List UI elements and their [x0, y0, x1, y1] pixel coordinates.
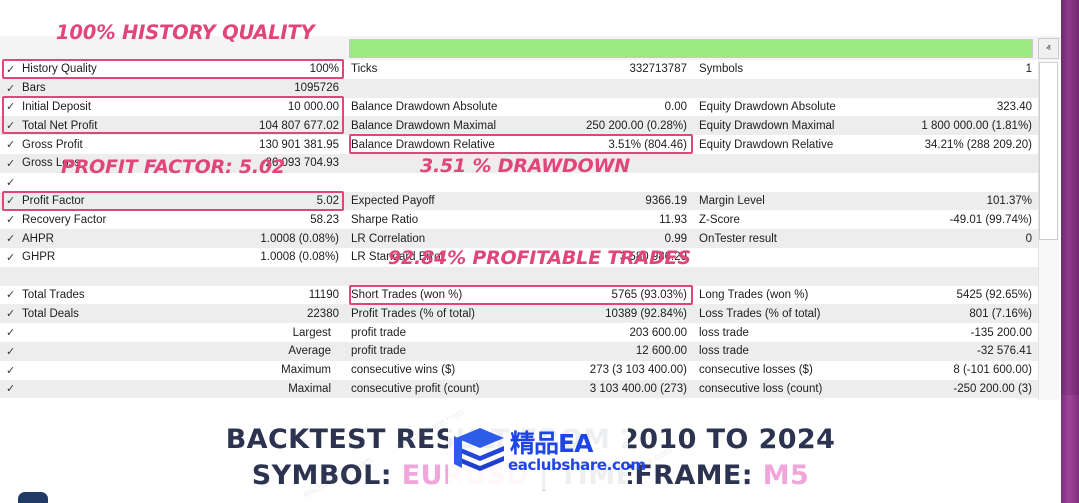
table-cell-col1: ✓Recovery Factor58.23: [0, 210, 345, 229]
table-cell-col1: ✓Total Net Profit104 807 677.02: [0, 116, 345, 135]
table-row[interactable]: ✓Total Deals22380Profit Trades (% of tot…: [0, 304, 1038, 323]
table-cell-col3: Loss Trades (% of total)801 (7.16%): [693, 304, 1038, 323]
row-value: 1 800 000.00 (1.81%): [913, 120, 1032, 132]
table-cell-col1: ✓Gross Profit130 901 381.95: [0, 135, 345, 154]
table-cell-col3: [693, 79, 1038, 98]
check-icon[interactable]: ✓: [6, 63, 22, 76]
table-cell-col1: ✓Total Trades11190: [0, 286, 345, 305]
row-label: Ticks: [351, 63, 621, 75]
table-cell-col3: loss trade-135 200.00: [693, 323, 1038, 342]
row-value: 1095726: [286, 82, 339, 94]
table-row[interactable]: ✓Recovery Factor58.23Sharpe Ratio11.93Z-…: [0, 210, 1038, 229]
table-cell-col3: [693, 267, 1038, 286]
table-cell-col2: [345, 79, 693, 98]
row-value: 801 (7.16%): [961, 308, 1032, 320]
row-value: 3 103 400.00 (273): [582, 383, 687, 395]
watermark-cn-text: 精品EA: [510, 424, 592, 460]
row-label: consecutive loss (count): [699, 383, 945, 395]
table-cell-col1: ✓Maximal: [0, 380, 345, 399]
table-cell-col3: consecutive loss (count)-250 200.00 (3): [693, 380, 1038, 399]
table-row[interactable]: ✓Bars1095726: [0, 79, 1038, 98]
row-value: -250 200.00 (3): [945, 383, 1032, 395]
table-cell-col1: ✓Largest: [0, 323, 345, 342]
row-label: Equity Drawdown Relative: [699, 139, 917, 151]
row-value: 11190: [301, 289, 339, 301]
row-value: 0: [1018, 233, 1032, 245]
check-icon[interactable]: ✓: [6, 100, 22, 113]
table-row[interactable]: ✓Initial Deposit10 000.00Balance Drawdow…: [0, 98, 1038, 117]
row-value: 101.37%: [979, 195, 1032, 207]
table-row[interactable]: ✓Total Trades11190Short Trades (won %)57…: [0, 286, 1038, 305]
row-label: Balance Drawdown Absolute: [351, 101, 657, 113]
row-label: profit trade: [351, 345, 628, 357]
row-label: loss trade: [699, 327, 963, 339]
table-cell-col3: Symbols1: [693, 60, 1038, 79]
row-value: 10389 (92.84%): [597, 308, 687, 320]
row-label: Bars: [22, 82, 286, 94]
row-value: 130 901 381.95: [251, 139, 339, 151]
row-value: 3.51% (804.46): [600, 139, 687, 151]
table-cell-col2: Balance Drawdown Maximal250 200.00 (0.28…: [345, 116, 693, 135]
corner-logo-fragment: [18, 492, 48, 503]
table-row[interactable]: ✓History Quality100%Ticks332713787Symbol…: [0, 60, 1038, 79]
row-value: 58.23: [302, 214, 339, 226]
check-icon[interactable]: ✓: [6, 382, 22, 395]
right-edge-band-lower: [1061, 395, 1079, 503]
report-rows: ✓History Quality100%Ticks332713787Symbol…: [0, 60, 1038, 417]
table-row[interactable]: ✓Maximalconsecutive profit (count)3 103 …: [0, 380, 1038, 399]
row-label: Maximum: [22, 364, 331, 376]
row-label: Equity Drawdown Absolute: [699, 101, 989, 113]
row-value: 332713787: [621, 63, 687, 75]
table-cell-col3: Equity Drawdown Maximal1 800 000.00 (1.8…: [693, 116, 1038, 135]
table-row[interactable]: ✓Total Net Profit104 807 677.02Balance D…: [0, 116, 1038, 135]
caption-profit-factor: PROFIT FACTOR: 5.02: [61, 156, 285, 178]
table-cell-col2: Short Trades (won %)5765 (93.03%): [345, 286, 693, 305]
table-row[interactable]: ✓Gross Profit130 901 381.95Balance Drawd…: [0, 135, 1038, 154]
row-value: -49.01 (99.74%): [942, 214, 1032, 226]
banner-timeframe-value: M5: [763, 460, 809, 491]
row-label: Gross Profit: [22, 139, 251, 151]
table-cell-col3: loss trade-32 576.41: [693, 342, 1038, 361]
check-icon[interactable]: ✓: [6, 364, 22, 377]
history-quality-bar: [349, 39, 1033, 58]
table-cell-col3: OnTester result0: [693, 229, 1038, 248]
row-value: -32 576.41: [969, 345, 1032, 357]
row-value: 1.0008 (0.08%): [252, 251, 339, 263]
table-cell-col1: ✓Total Deals22380: [0, 304, 345, 323]
table-row[interactable]: [0, 267, 1038, 286]
check-icon[interactable]: ✓: [6, 232, 22, 245]
row-label: loss trade: [699, 345, 969, 357]
row-label: Recovery Factor: [22, 214, 302, 226]
table-cell-col3: Equity Drawdown Relative34.21% (288 209.…: [693, 135, 1038, 154]
row-label: consecutive losses ($): [699, 364, 945, 376]
row-value: 100%: [302, 63, 339, 75]
table-cell-col1: ✓Average: [0, 342, 345, 361]
backtest-report-panel: ⱏ ✓History Quality100%Ticks332713787Symb…: [0, 36, 1061, 400]
check-icon[interactable]: ✓: [6, 176, 22, 189]
caption-drawdown: 3.51 % DRAWDOWN: [420, 155, 630, 177]
row-value: 203 600.00: [621, 327, 687, 339]
row-value: 5.02: [309, 195, 339, 207]
row-label: GHPR: [22, 251, 252, 263]
check-icon[interactable]: ✓: [6, 157, 22, 170]
row-label: Average: [22, 345, 331, 357]
row-label: Total Deals: [22, 308, 299, 320]
check-icon[interactable]: ✓: [6, 251, 22, 264]
row-value: 9366.19: [637, 195, 687, 207]
row-label: consecutive wins ($): [351, 364, 582, 376]
row-label: Equity Drawdown Maximal: [699, 120, 913, 132]
row-label: Z-Score: [699, 214, 942, 226]
row-value: 323.40: [989, 101, 1032, 113]
row-value: 250 200.00 (0.28%): [578, 120, 687, 132]
table-cell-col2: consecutive profit (count)3 103 400.00 (…: [345, 380, 693, 399]
table-cell-col2: profit trade203 600.00: [345, 323, 693, 342]
row-label: Balance Drawdown Relative: [351, 139, 600, 151]
row-value: 1.0008 (0.08%): [252, 233, 339, 245]
table-cell-col2: [345, 267, 693, 286]
table-cell-col2: LR Correlation0.99: [345, 229, 693, 248]
check-icon[interactable]: ✓: [6, 326, 22, 339]
watermark-url: eaclubshare.com: [508, 456, 646, 474]
row-value: 273 (3 103 400.00): [582, 364, 687, 376]
table-cell-col3: Equity Drawdown Absolute323.40: [693, 98, 1038, 117]
table-cell-col2: Balance Drawdown Absolute0.00: [345, 98, 693, 117]
row-label: Sharpe Ratio: [351, 214, 651, 226]
banner-symbol-label: SYMBOL:: [252, 460, 402, 491]
table-cell-col2: profit trade12 600.00: [345, 342, 693, 361]
table-cell-col3: [693, 173, 1038, 192]
table-cell-col1: ✓Bars1095726: [0, 79, 345, 98]
table-cell-col2: Balance Drawdown Relative3.51% (804.46): [345, 135, 693, 154]
row-label: OnTester result: [699, 233, 1018, 245]
row-label: Initial Deposit: [22, 101, 280, 113]
row-value: 8 (-101 600.00): [945, 364, 1032, 376]
table-row[interactable]: ✓Maximumconsecutive wins ($)273 (3 103 4…: [0, 361, 1038, 380]
watermark: 精品EA eaclubshare.com: [448, 418, 628, 490]
check-icon[interactable]: ✓: [6, 119, 22, 132]
right-edge-band: [1061, 0, 1079, 395]
row-label: Profit Factor: [22, 195, 309, 207]
table-row[interactable]: ✓Profit Factor5.02Expected Payoff9366.19…: [0, 192, 1038, 211]
row-value: 11.93: [651, 214, 687, 226]
table-cell-col3: Long Trades (won %)5425 (92.65%): [693, 286, 1038, 305]
check-icon[interactable]: ✓: [6, 138, 22, 151]
eaclubshare-logo-icon: [450, 426, 506, 478]
table-cell-col3: Margin Level101.37%: [693, 192, 1038, 211]
row-label: LR Correlation: [351, 233, 657, 245]
row-label: Symbols: [699, 63, 1018, 75]
row-value: 104 807 677.02: [251, 120, 339, 132]
row-label: History Quality: [22, 63, 302, 75]
row-label: Total Trades: [22, 289, 301, 301]
row-value: 5425 (92.65%): [949, 289, 1032, 301]
banner-line1-suffix: 2010 TO 2024: [620, 424, 835, 455]
row-value: 22380: [299, 308, 339, 320]
scrollbar-thumb[interactable]: [1039, 62, 1058, 240]
table-cell-col2: consecutive wins ($)273 (3 103 400.00): [345, 361, 693, 380]
row-label: profit trade: [351, 327, 621, 339]
row-value: 0.00: [657, 101, 687, 113]
table-cell-col1: [0, 267, 345, 286]
row-label: Short Trades (won %): [351, 289, 604, 301]
row-value: 5765 (93.03%): [604, 289, 687, 301]
table-row[interactable]: ✓Averageprofit trade12 600.00loss trade-…: [0, 342, 1038, 361]
table-cell-col1: ✓AHPR1.0008 (0.08%): [0, 229, 345, 248]
table-cell-col1: ✓Initial Deposit10 000.00: [0, 98, 345, 117]
row-label: Loss Trades (% of total): [699, 308, 961, 320]
row-label: consecutive profit (count): [351, 383, 582, 395]
row-label: Maximal: [22, 383, 331, 395]
row-label: Long Trades (won %): [699, 289, 949, 301]
row-label: Expected Payoff: [351, 195, 637, 207]
table-cell-col2: Sharpe Ratio11.93: [345, 210, 693, 229]
check-icon[interactable]: ✓: [6, 82, 22, 95]
row-label: Balance Drawdown Maximal: [351, 120, 578, 132]
screenshot-root: ⱏ ✓History Quality100%Ticks332713787Symb…: [0, 0, 1079, 503]
table-cell-col1: ✓Maximum: [0, 361, 345, 380]
row-value: 1: [1018, 63, 1032, 75]
caption-history-quality: 100% HISTORY QUALITY: [56, 21, 314, 44]
row-label: Profit Trades (% of total): [351, 308, 597, 320]
check-icon[interactable]: ✓: [6, 307, 22, 320]
row-value: 12 600.00: [628, 345, 687, 357]
table-cell-col2: Ticks332713787: [345, 60, 693, 79]
table-cell-col3: Z-Score-49.01 (99.74%): [693, 210, 1038, 229]
table-cell-col3: [693, 154, 1038, 173]
caption-profitable-trades: 92.84% PROFITABLE TRADES: [388, 247, 691, 269]
row-value: -135 200.00: [963, 327, 1032, 339]
row-value: 10 000.00: [280, 101, 339, 113]
row-value: 34.21% (288 209.20): [917, 139, 1032, 151]
check-icon[interactable]: ✓: [6, 194, 22, 207]
table-cell-col1: ✓GHPR1.0008 (0.08%): [0, 248, 345, 267]
table-cell-col3: [693, 248, 1038, 267]
row-label: AHPR: [22, 233, 252, 245]
row-value: 0.99: [657, 233, 687, 245]
row-label: Largest: [22, 327, 331, 339]
scroll-up-icon[interactable]: ⱏ: [1038, 38, 1059, 59]
check-icon[interactable]: ✓: [6, 345, 22, 358]
table-row[interactable]: ✓Largestprofit trade203 600.00loss trade…: [0, 323, 1038, 342]
check-icon[interactable]: ✓: [6, 288, 22, 301]
table-cell-col1: ✓History Quality100%: [0, 60, 345, 79]
table-cell-col2: Expected Payoff9366.19: [345, 192, 693, 211]
row-label: Total Net Profit: [22, 120, 251, 132]
check-icon[interactable]: ✓: [6, 213, 22, 226]
table-cell-col1: ✓Profit Factor5.02: [0, 192, 345, 211]
table-cell-col3: consecutive losses ($)8 (-101 600.00): [693, 361, 1038, 380]
row-label: Margin Level: [699, 195, 979, 207]
table-row[interactable]: ✓AHPR1.0008 (0.08%)LR Correlation0.99OnT…: [0, 229, 1038, 248]
table-cell-col2: Profit Trades (% of total)10389 (92.84%): [345, 304, 693, 323]
